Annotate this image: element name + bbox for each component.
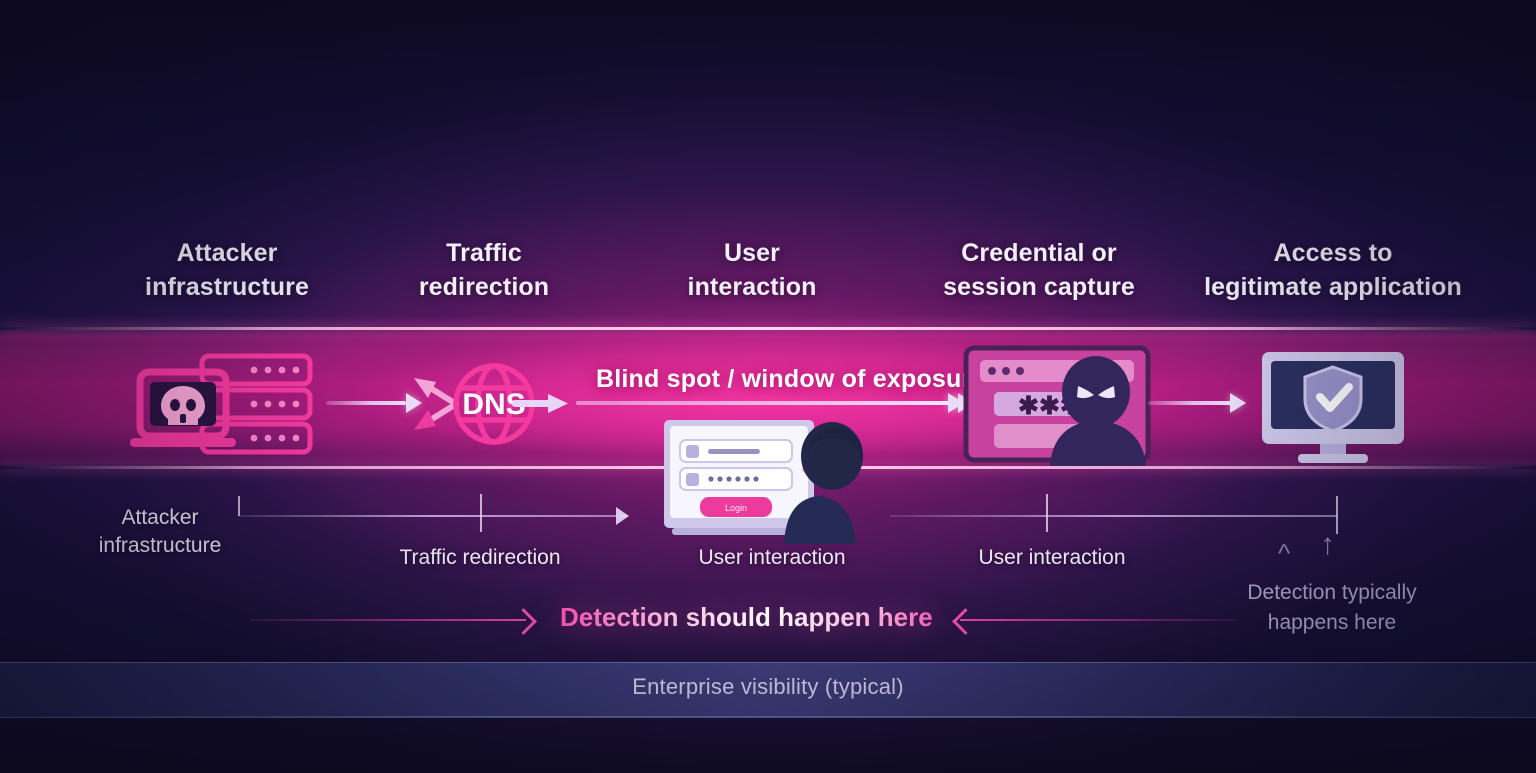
user-interaction-illustration: Login	[656, 412, 868, 544]
stage-header-line1: Credential or	[900, 236, 1178, 270]
stage-header-attacker-infrastructure: Attacker infrastructure	[96, 236, 358, 304]
detection-should-label: Detection should happen here	[560, 602, 933, 633]
lower-label-user-interaction-2: User interaction	[934, 544, 1170, 572]
connector-arrow-3	[866, 398, 966, 408]
stage-header-line1: User	[638, 236, 866, 270]
enterprise-visibility-underline	[0, 716, 1536, 717]
detection-arrow-left-head	[510, 608, 537, 635]
attacker-infrastructure-icon	[128, 352, 318, 462]
lower-label-user-interaction-1: User interaction	[654, 544, 890, 572]
stage-header-line2: infrastructure	[96, 270, 358, 304]
shield-check-icon	[1305, 367, 1361, 431]
span-arrowhead-1	[616, 507, 629, 525]
stage-header-line2: legitimate application	[1172, 270, 1494, 304]
enterprise-visibility-label: Enterprise visibility (typical)	[0, 674, 1536, 700]
detection-typical-arrow-small: ^	[1278, 540, 1290, 566]
dns-redirection-icon: DNS	[408, 358, 580, 450]
stage-header-traffic-redirection: Traffic redirection	[366, 236, 602, 304]
blind-spot-label: Blind spot / window of exposure	[596, 365, 986, 394]
detection-arrow-right-head	[952, 608, 979, 635]
credential-capture-icon: ✱✱✱✱	[962, 344, 1156, 466]
connector-arrow-4	[1148, 398, 1248, 408]
band-top-edge-line	[0, 327, 1536, 330]
stage-header-line2: session capture	[900, 270, 1178, 304]
lower-label-traffic-redirection: Traffic redirection	[362, 544, 598, 572]
span-tick-end-2	[1336, 496, 1338, 534]
span-rule-user	[890, 515, 1338, 517]
span-tick-mid-1	[480, 494, 482, 532]
login-button-label: Login	[725, 503, 747, 513]
stage-header-line2: redirection	[366, 270, 602, 304]
detection-typical-line2: happens here	[1200, 608, 1464, 638]
lower-label-line1: User interaction	[934, 544, 1170, 572]
lower-label-line2: infrastructure	[42, 532, 278, 560]
stage-header-user-interaction: User interaction	[638, 236, 866, 304]
stage-header-access-application: Access to legitimate application	[1172, 236, 1494, 304]
stage-header-line1: Attacker	[96, 236, 358, 270]
detection-typical-label: Detection typically happens here	[1200, 578, 1464, 638]
detection-arrow-left-shaft	[250, 619, 526, 621]
stage-header-line1: Traffic	[366, 236, 602, 270]
detection-arrow-right-shaft	[960, 619, 1236, 621]
legitimate-application-icon	[1258, 350, 1408, 465]
stage-header-line1: Access to	[1172, 236, 1494, 270]
lower-label-line1: User interaction	[654, 544, 890, 572]
stage-header-credential-capture: Credential or session capture	[900, 236, 1178, 304]
stage-header-line2: interaction	[638, 270, 866, 304]
detection-typical-arrow-large: ↑	[1320, 532, 1335, 558]
lower-label-attacker-infrastructure: Attacker infrastructure	[42, 504, 278, 560]
infographic-canvas: Attacker infrastructure Traffic redirect…	[0, 0, 1536, 773]
span-rule-traffic	[238, 515, 628, 517]
detection-typical-line1: Detection typically	[1200, 578, 1464, 608]
span-tick-mid-2	[1046, 494, 1048, 532]
lower-label-line1: Attacker	[42, 504, 278, 532]
lower-label-line1: Traffic redirection	[362, 544, 598, 572]
